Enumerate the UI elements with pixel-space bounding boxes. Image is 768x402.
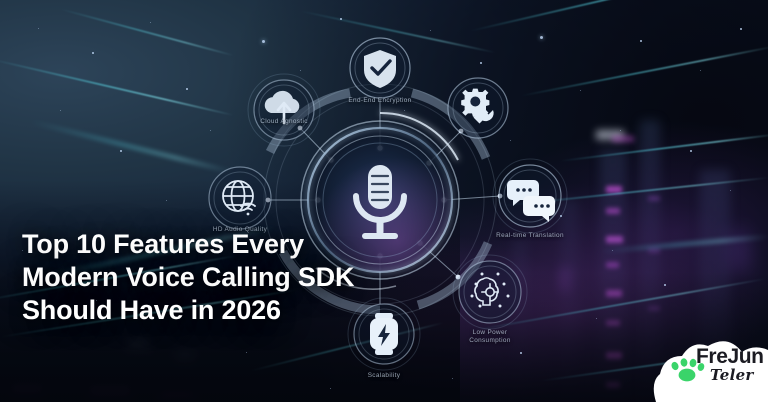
headline-line-3: Should Have in 2026 (22, 294, 442, 327)
label-scalability: Scalability (344, 372, 424, 380)
brand-logo[interactable]: FreJun Teler (650, 326, 768, 402)
feature-node-configuration[interactable] (448, 78, 508, 138)
feature-node-hd-audio-quality[interactable] (209, 167, 271, 229)
label-low-power-consumption: Low Power Consumption (450, 329, 530, 345)
label-real-time-translation: Real-time Translation (480, 232, 580, 240)
feature-node-end-end-encryption[interactable] (350, 38, 410, 98)
page-title: Top 10 Features Every Modern Voice Calli… (22, 228, 442, 327)
headline-line-2: Modern Voice Calling SDK (22, 261, 442, 294)
label-end-end-encryption: End-End Encryption (330, 97, 430, 105)
blog-banner: End-End Encryption Cloud Agnostic Real-t… (0, 0, 768, 402)
logo-brand-text: FreJun (696, 346, 764, 367)
logo-product-text: Teler (710, 368, 754, 383)
label-cloud-agnostic: Cloud Agnostic (244, 118, 324, 126)
feature-node-low-power-consumption[interactable] (459, 261, 521, 323)
headline-line-1: Top 10 Features Every (22, 228, 442, 261)
feature-node-real-time-translation[interactable] (499, 165, 561, 227)
feature-node-cloud-agnostic[interactable] (254, 80, 314, 140)
